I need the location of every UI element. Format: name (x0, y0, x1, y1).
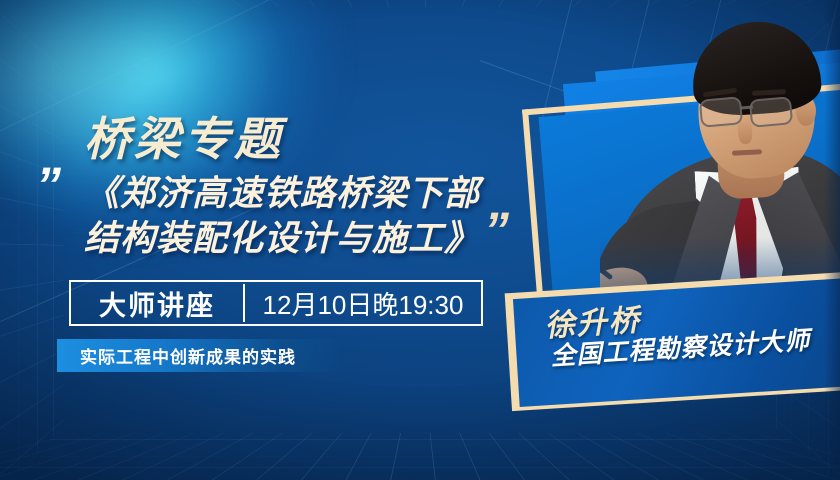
lecture-label: 大师讲座 (71, 282, 243, 324)
poster-canvas: 徐升桥 全国工程勘察设计大师 桥梁专题 ” ” 《郑济高速铁路桥梁下部 结构装配… (0, 0, 840, 480)
tagline-text: 实际工程中创新成果的实践 (57, 343, 296, 368)
name-banner-content: 徐升桥 全国工程勘察设计大师 (515, 277, 840, 407)
main-title-line-2: 结构装配化设计与施工》 (84, 217, 504, 262)
right-edge-shade (824, 0, 840, 480)
tagline-bar: 实际工程中创新成果的实践 (57, 339, 345, 372)
topic-label: 桥梁专题 (84, 103, 284, 169)
main-title: 《郑济高速铁路桥梁下部 结构装配化设计与施工》 (84, 172, 504, 262)
info-box: 大师讲座 12月10日晚19:30 (69, 280, 483, 326)
schedule-text: 12月10日晚19:30 (245, 282, 481, 324)
main-title-line-1: 《郑济高速铁路桥梁下部 (84, 172, 504, 217)
quote-open-icon: ” (36, 160, 57, 210)
